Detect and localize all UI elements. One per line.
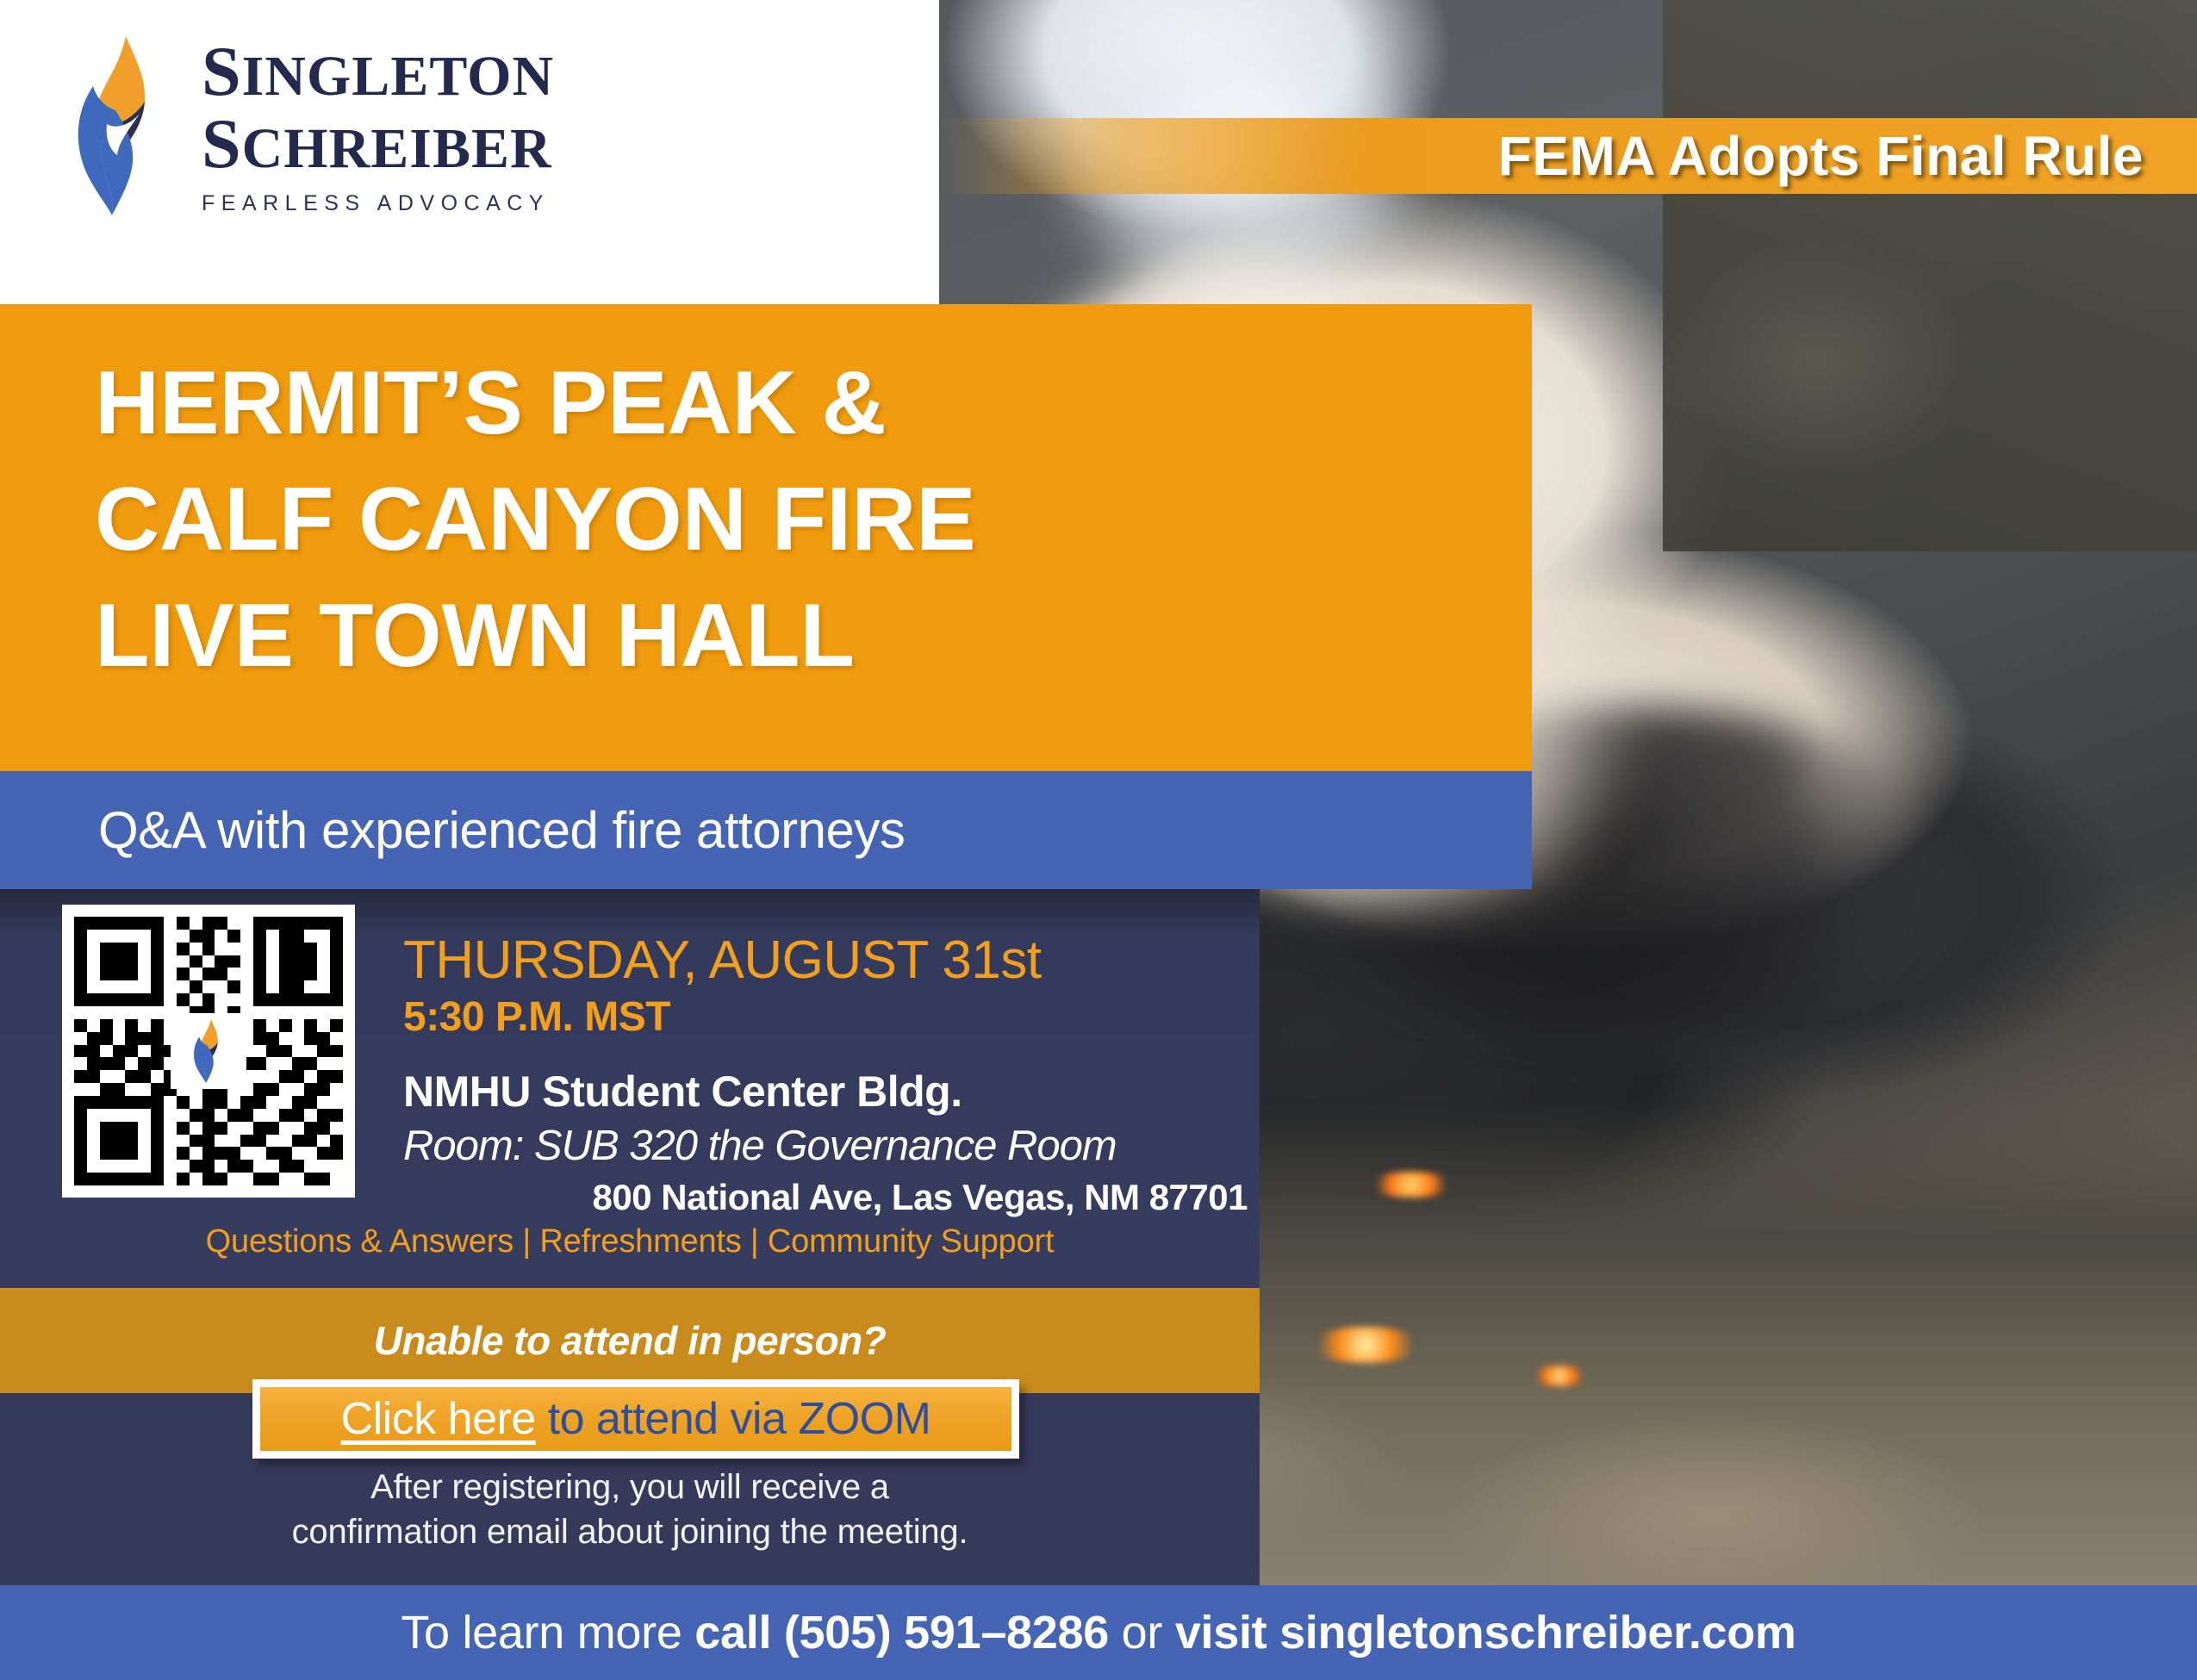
footer-website[interactable]: visit singletonschreiber.com [1175,1607,1796,1658]
photo-fire-hotspot-2 [1310,1327,1422,1363]
headline-block: HERMIT’S PEAK & CALF CANYON FIRE LIVE TO… [0,304,1532,771]
attend-via-zoom-rest: to attend via ZOOM [536,1394,931,1444]
remote-prompt-band: Unable to attend in person? [0,1288,1260,1393]
brand-line-1: SINGLETON [202,35,554,108]
footer-prefix: To learn more [401,1607,694,1658]
brand-line-2-cap: S [202,104,242,183]
registration-note-line-1: After registering, you will receive a [0,1465,1260,1509]
qr-center-flame-logo-icon [171,1013,246,1089]
qr-code-grid [74,917,343,1185]
event-room: Room: SUB 320 the Governance Room [403,1122,1248,1170]
qr-code-icon[interactable] [62,905,355,1198]
remote-prompt-label: Unable to attend in person? [374,1317,887,1364]
brand-tagline: FEARLESS ADVOCACY [202,191,554,216]
flame-logo-icon [67,34,171,217]
headline-line-2: CALF CANYON FIRE [95,462,1532,578]
event-address: 800 National Ave, Las Vegas, NM 87701 [403,1177,1248,1218]
event-time: 5:30 P.M. MST [403,993,1248,1041]
footer-middle: or [1109,1607,1175,1658]
brand-line-2-rest: CHREIBER [242,117,552,180]
page-title: HERMIT’S PEAK & CALF CANYON FIRE LIVE TO… [95,345,1532,695]
footer-phone[interactable]: call (505) 591–8286 [694,1607,1109,1658]
headline-line-1: HERMIT’S PEAK & [95,345,1532,462]
headline-line-3: LIVE TOWN HALL [95,578,1532,694]
footer-contact-text: To learn more call (505) 591–8286 or vis… [401,1606,1796,1659]
attend-via-zoom-label: Click here to attend via ZOOM [341,1393,931,1445]
brand-line-1-rest: INGLETON [242,45,555,108]
footer-contact-bar: To learn more call (505) 591–8286 or vis… [0,1585,2197,1680]
photo-terrain-upper [1663,0,2197,551]
header-white-block: SINGLETON SCHREIBER FEARLESS ADVOCACY [0,0,939,304]
brand-wordmark: SINGLETON SCHREIBER FEARLESS ADVOCACY [202,35,554,216]
subheading-strip: Q&A with experienced fire attorneys [0,771,1532,889]
photo-fire-hotspot-3 [1534,1366,1585,1386]
attend-via-zoom-button[interactable]: Click here to attend via ZOOM [252,1379,1019,1459]
photo-fire-hotspot-1 [1370,1172,1453,1198]
brand-line-1-cap: S [202,32,242,110]
fema-final-rule-banner: FEMA Adopts Final Rule [939,118,2197,194]
poster-canvas: SINGLETON SCHREIBER FEARLESS ADVOCACY FE… [0,0,2197,1680]
event-venue: NMHU Student Center Bldg. [403,1067,1248,1117]
event-detail-text: THURSDAY, AUGUST 31st 5:30 P.M. MST NMHU… [403,932,1248,1218]
fema-banner-label: FEMA Adopts Final Rule [1498,124,2197,188]
event-date: THURSDAY, AUGUST 31st [403,932,1248,988]
registration-note: After registering, you will receive a co… [0,1465,1260,1554]
subheading-label: Q&A with experienced fire attorneys [0,800,905,860]
click-here-link[interactable]: Click here [341,1394,536,1444]
event-perks: Questions & Answers | Refreshments | Com… [0,1223,1260,1260]
brand-logo[interactable]: SINGLETON SCHREIBER FEARLESS ADVOCACY [67,34,554,217]
brand-line-2: SCHREIBER [202,108,554,180]
registration-note-line-2: confirmation email about joining the mee… [0,1509,1260,1554]
